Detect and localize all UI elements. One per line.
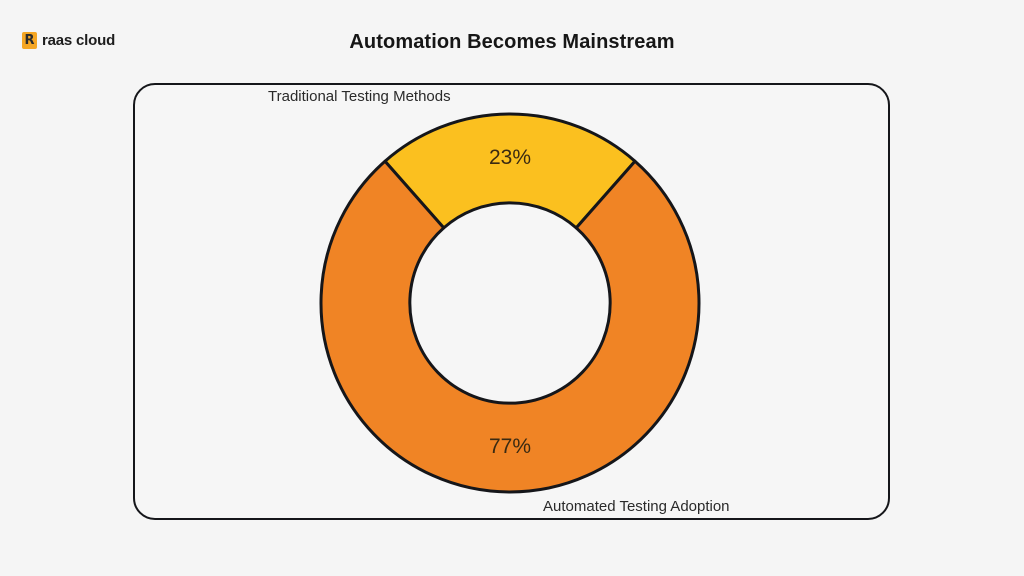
donut-chart-svg: 23% 77%	[318, 111, 702, 495]
donut-chart: 23% 77%	[318, 111, 702, 495]
donut-value-label-traditional: 23%	[489, 146, 531, 169]
page-title: Automation Becomes Mainstream	[0, 31, 1024, 54]
donut-value-label-automated: 77%	[489, 435, 531, 458]
slice-label-automated-testing-adoption: Automated Testing Adoption	[543, 498, 730, 515]
slice-label-traditional-testing-methods: Traditional Testing Methods	[268, 88, 451, 105]
